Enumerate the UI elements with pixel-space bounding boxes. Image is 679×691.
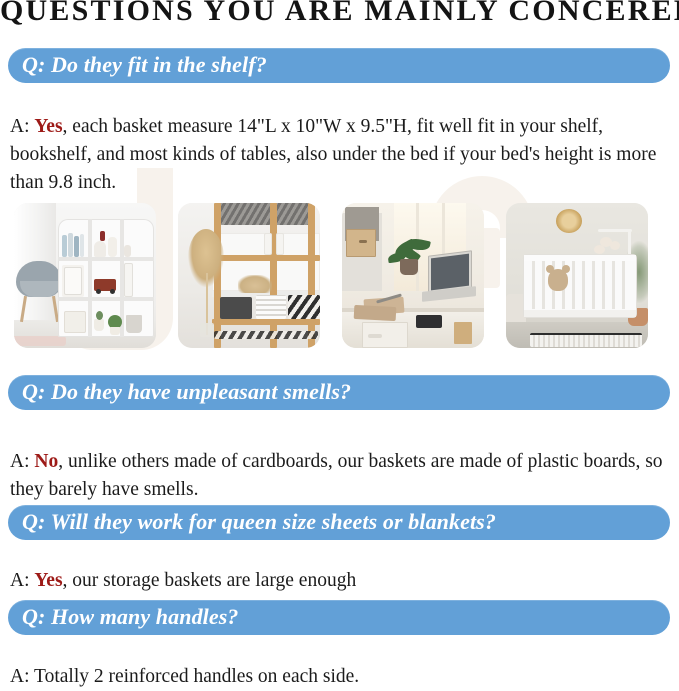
faq-answer-highlight-1: Yes xyxy=(34,116,62,137)
faq-answer-3: A: Yes, our storage baskets are large en… xyxy=(10,567,672,595)
faq-question-banner-4[interactable]: Q: How many handles? xyxy=(8,600,670,635)
faq-answer-1: A: Yes, each basket measure 14"L x 10"W … xyxy=(10,113,672,197)
faq-answer-rest-1: , each basket measure 14"L x 10"W x 9.5"… xyxy=(10,116,656,193)
faq-answer-rest-4: Totally 2 reinforced handles on each sid… xyxy=(34,666,359,687)
faq-answer-rest-3: , our storage baskets are large enough xyxy=(63,570,357,591)
faq-question-text-1: Q: Do they fit in the shelf? xyxy=(8,54,267,76)
faq-answer-highlight-3: Yes xyxy=(34,570,62,591)
faq-answer-2: A: No, unlike others made of cardboards,… xyxy=(10,448,672,504)
faq-answer-4: A: Totally 2 reinforced handles on each … xyxy=(10,663,672,691)
gallery-photo-bamboo-bunk-bed-shelf xyxy=(178,203,320,348)
page-title: QUESTIONS YOU ARE MAINLY CONCERED xyxy=(0,0,679,28)
gallery-photo-home-office-desk xyxy=(342,203,484,348)
gallery-photo-nursery-crib xyxy=(506,203,648,348)
faq-answer-prefix-1: A: xyxy=(10,116,34,137)
faq-question-text-2: Q: Do they have unpleasant smells? xyxy=(8,381,351,403)
faq-answer-rest-2: , unlike others made of cardboards, our … xyxy=(10,451,663,500)
faq-answer-prefix-3: A: xyxy=(10,570,34,591)
faq-answer-prefix-2: A: xyxy=(10,451,34,472)
faq-question-text-3: Q: Will they work for queen size sheets … xyxy=(8,511,496,533)
gallery-photo-strip xyxy=(14,203,665,348)
faq-answer-prefix-4: A: xyxy=(10,666,34,687)
faq-question-banner-3[interactable]: Q: Will they work for queen size sheets … xyxy=(8,505,670,540)
faq-question-banner-2[interactable]: Q: Do they have unpleasant smells? xyxy=(8,375,670,410)
gallery-photo-white-cube-shelf-living-room xyxy=(14,203,156,348)
faq-question-banner-1[interactable]: Q: Do they fit in the shelf? xyxy=(8,48,670,83)
faq-answer-highlight-2: No xyxy=(34,451,58,472)
faq-question-text-4: Q: How many handles? xyxy=(8,606,239,628)
